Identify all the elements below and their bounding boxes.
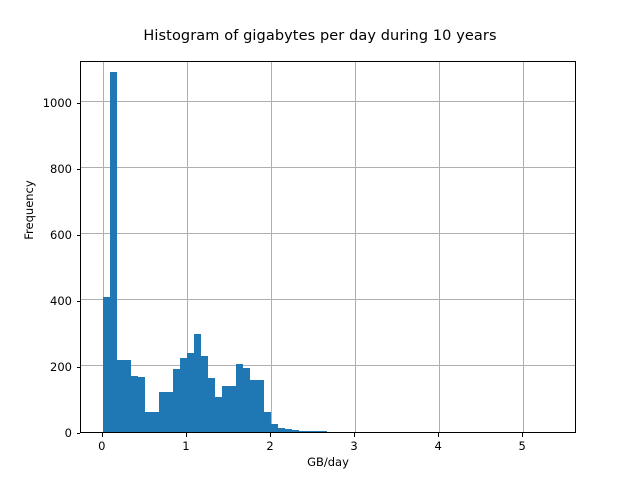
- histogram-bar: [145, 412, 152, 432]
- histogram-bar: [194, 334, 201, 432]
- histogram-bar: [285, 429, 292, 432]
- y-tick-mark: [77, 367, 81, 368]
- histogram-bar: [243, 368, 250, 432]
- chart-title: Histogram of gigabytes per day during 10…: [0, 28, 640, 44]
- histogram-bar: [299, 431, 306, 432]
- histogram-bar: [250, 380, 257, 432]
- x-tick-label: 4: [418, 439, 458, 453]
- histogram-bar: [173, 369, 180, 432]
- x-tick-label: 3: [334, 439, 374, 453]
- y-tick-label: 1000: [26, 96, 72, 110]
- histogram-bar: [159, 392, 166, 432]
- y-axis-label: Frequency: [22, 150, 36, 270]
- y-tick-mark: [77, 235, 81, 236]
- y-tick-mark: [77, 301, 81, 302]
- x-tick-mark: [522, 433, 523, 437]
- x-tick-mark: [102, 433, 103, 437]
- x-tick-label: 0: [82, 439, 122, 453]
- histogram-bar: [257, 380, 264, 432]
- y-tick-mark: [77, 103, 81, 104]
- y-tick-label: 200: [26, 360, 72, 374]
- histogram-bar: [215, 397, 222, 432]
- histogram-bar: [292, 430, 299, 432]
- y-tick-mark: [77, 433, 81, 434]
- histogram-bar: [103, 297, 110, 432]
- histogram-bar: [180, 358, 187, 432]
- histogram-bar: [208, 378, 215, 432]
- histogram-bar: [236, 364, 243, 432]
- histogram-bar: [320, 431, 327, 432]
- histogram-bar: [222, 386, 229, 432]
- x-tick-label: 5: [502, 439, 542, 453]
- x-tick-label: 1: [166, 439, 206, 453]
- x-axis-label: GB/day: [80, 455, 576, 469]
- histogram-bar: [124, 360, 131, 432]
- histogram-bar: [187, 353, 194, 432]
- histogram-bar: [152, 412, 159, 432]
- histogram-bar: [264, 412, 271, 432]
- histogram-bar: [117, 360, 124, 432]
- histogram-bar: [138, 377, 145, 432]
- histogram-bar: [271, 424, 278, 432]
- y-tick-mark: [77, 169, 81, 170]
- plot-area: [80, 61, 576, 433]
- histogram-bar: [306, 431, 313, 432]
- x-tick-mark: [354, 433, 355, 437]
- histogram-figure: Histogram of gigabytes per day during 10…: [0, 0, 640, 480]
- x-tick-label: 2: [250, 439, 290, 453]
- histogram-bar: [313, 431, 320, 432]
- histogram-bars: [81, 62, 575, 432]
- y-tick-label: 400: [26, 294, 72, 308]
- histogram-bar: [131, 376, 138, 432]
- y-tick-label: 0: [26, 426, 72, 440]
- histogram-bar: [229, 386, 236, 432]
- histogram-bar: [278, 428, 285, 432]
- x-tick-mark: [270, 433, 271, 437]
- histogram-bar: [166, 392, 173, 432]
- histogram-bar: [110, 72, 117, 432]
- x-tick-mark: [186, 433, 187, 437]
- histogram-bar: [201, 356, 208, 432]
- x-tick-mark: [438, 433, 439, 437]
